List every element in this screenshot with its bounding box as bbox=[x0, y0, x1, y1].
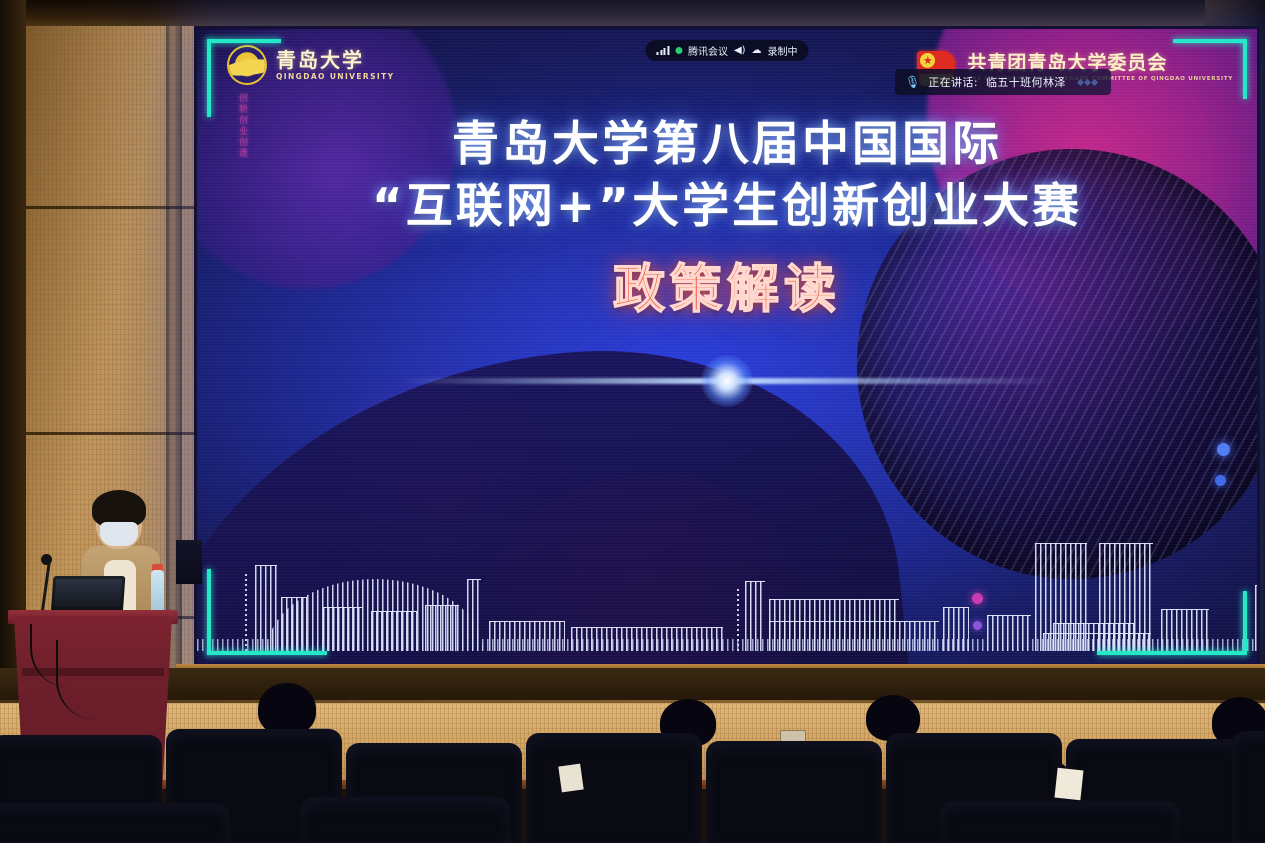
ceiling bbox=[0, 0, 1265, 26]
audience-seat-front bbox=[0, 803, 230, 843]
speaker-icon[interactable]: ◀) bbox=[734, 45, 746, 56]
audience-seat-front bbox=[300, 797, 510, 843]
meeting-status-bar[interactable]: 腾讯会议 ◀) ☁ 录制中 bbox=[645, 40, 808, 61]
audience-seat-front bbox=[940, 801, 1180, 843]
flare-core bbox=[701, 355, 753, 407]
qdu-logo-chinese: 青岛大学 bbox=[276, 50, 394, 70]
slide-title-line-3: 政策解读 bbox=[197, 247, 1257, 322]
presentation-slide: 青岛大学 QINGDAO UNIVERSITY 创新创业创造 ★ 共青团青岛大学… bbox=[197, 29, 1257, 665]
microphone-icon bbox=[41, 554, 52, 565]
audience-seat bbox=[526, 733, 702, 843]
speaking-banner: 🎙 正在讲话: 临五十班何林泽 bbox=[895, 69, 1111, 95]
frame-corner-top-right bbox=[1173, 39, 1247, 43]
frame-corner-top-left bbox=[207, 39, 281, 43]
speaking-label: 正在讲话: bbox=[928, 74, 978, 90]
cloud-icon: ☁ bbox=[752, 45, 762, 56]
screenshot-root: 青岛大学 QINGDAO UNIVERSITY 创新创业创造 ★ 共青团青岛大学… bbox=[0, 0, 1265, 843]
glow-dot bbox=[1215, 475, 1226, 486]
qdu-logo-english: QINGDAO UNIVERSITY bbox=[276, 73, 394, 81]
frame-corner-bottom-left bbox=[207, 651, 327, 655]
qingdao-university-logo: 青岛大学 QINGDAO UNIVERSITY bbox=[227, 45, 394, 85]
skyline-ground bbox=[197, 639, 1257, 651]
green-status-dot bbox=[675, 47, 682, 54]
frame-corner-bottom-left bbox=[207, 569, 211, 655]
paper-sheet bbox=[558, 764, 583, 793]
slide-title-block: 青岛大学第八届中国国际 “互联网+”大学生创新创业大赛 政策解读 bbox=[197, 117, 1257, 322]
frame-corner-top-right bbox=[1243, 39, 1247, 99]
waveform-icon bbox=[1078, 80, 1097, 85]
stage-monitor bbox=[176, 540, 202, 584]
presenter-face-mask bbox=[100, 522, 138, 546]
slide-title-line-1: 青岛大学第八届中国国际 bbox=[197, 117, 1257, 172]
slide-title-line-2: “互联网+”大学生创新创业大赛 bbox=[197, 179, 1257, 234]
frame-corner-bottom-right bbox=[1097, 651, 1247, 655]
recording-label: 录制中 bbox=[768, 43, 798, 58]
frame-corner-bottom-right bbox=[1243, 591, 1247, 655]
signal-bars-icon bbox=[656, 46, 669, 55]
frame-corner-top-left bbox=[207, 39, 211, 117]
city-skyline bbox=[197, 521, 1257, 651]
audience-head bbox=[258, 683, 316, 735]
laptop-screen bbox=[54, 579, 122, 607]
speaking-name: 临五十班何林泽 bbox=[986, 74, 1066, 90]
stage-front bbox=[0, 668, 1265, 704]
audience-seat bbox=[706, 741, 882, 843]
glow-dot bbox=[1217, 443, 1230, 456]
qdu-emblem-icon bbox=[227, 45, 267, 85]
projection-screen: 青岛大学 QINGDAO UNIVERSITY 创新创业创造 ★ 共青团青岛大学… bbox=[194, 26, 1260, 668]
meeting-app-name: 腾讯会议 bbox=[688, 43, 728, 58]
paper-sheet bbox=[1055, 768, 1084, 801]
wall-seam bbox=[0, 700, 1265, 703]
audience-seat bbox=[1232, 731, 1265, 843]
microphone-icon: 🎙 bbox=[905, 75, 920, 89]
